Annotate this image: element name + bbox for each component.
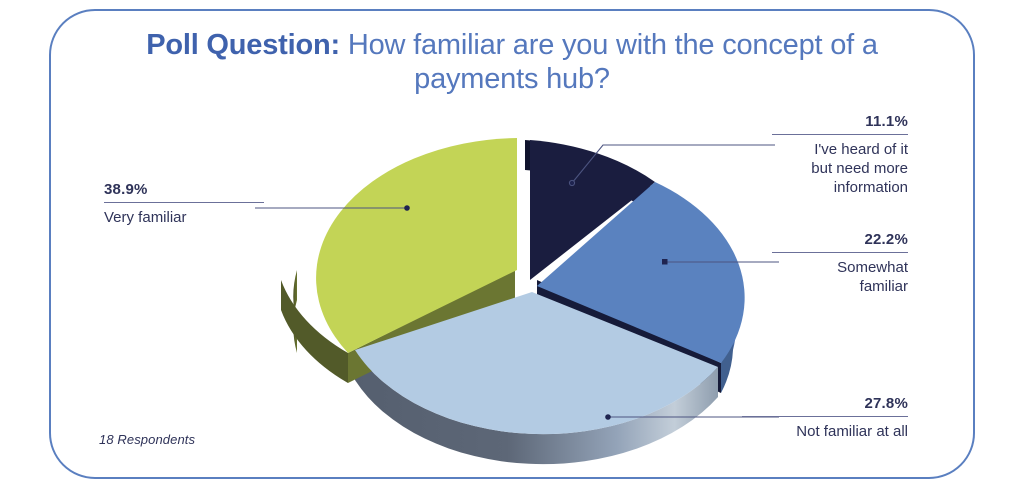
callout-somewhat-label-line-1: Somewhat bbox=[772, 258, 908, 277]
callout-somewhat: 22.2% Somewhat familiar bbox=[772, 230, 908, 296]
callout-somewhat-rule bbox=[772, 252, 908, 253]
callout-somewhat-label: Somewhat familiar bbox=[772, 258, 908, 296]
callout-not-rule bbox=[742, 416, 908, 417]
callout-somewhat-label-line-2: familiar bbox=[772, 277, 908, 296]
callout-not-label-line-1: Not familiar at all bbox=[742, 422, 908, 441]
callout-heard-label-line-3: information bbox=[772, 178, 908, 197]
callout-heard: 11.1% I've heard of it but need more inf… bbox=[772, 112, 908, 197]
callout-heard-label: I've heard of it but need more informati… bbox=[772, 140, 908, 197]
pie-chart bbox=[255, 120, 785, 465]
title-bold-prefix: Poll Question: bbox=[146, 29, 340, 61]
callout-not-percent: 27.8% bbox=[742, 394, 908, 413]
title-rest: How familiar are you with the concept of… bbox=[340, 29, 878, 95]
callout-not-label: Not familiar at all bbox=[742, 422, 908, 441]
respondents-count: 18 Respondents bbox=[99, 432, 195, 447]
callout-somewhat-percent: 22.2% bbox=[772, 230, 908, 249]
callout-heard-percent: 11.1% bbox=[772, 112, 908, 131]
callout-heard-rule bbox=[772, 134, 908, 135]
slide-canvas: Poll Question: How familiar are you with… bbox=[0, 0, 1024, 495]
callout-very-label: Very familiar bbox=[104, 208, 264, 227]
callout-very-percent: 38.9% bbox=[104, 180, 264, 199]
callout-heard-label-line-1: I've heard of it bbox=[772, 140, 908, 159]
callout-heard-label-line-2: but need more bbox=[772, 159, 908, 178]
callout-not: 27.8% Not familiar at all bbox=[742, 394, 908, 441]
callout-very-rule bbox=[104, 202, 264, 203]
callout-very-label-line-1: Very familiar bbox=[104, 208, 264, 227]
callout-very: 38.9% Very familiar bbox=[104, 180, 264, 227]
page-title: Poll Question: How familiar are you with… bbox=[112, 28, 912, 96]
